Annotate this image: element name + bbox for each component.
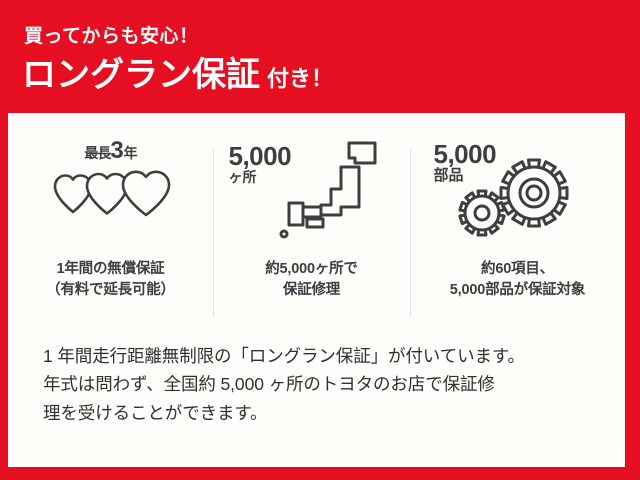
feature-warranty-term: 最長 3 年 (8, 137, 213, 332)
advertisement-banner: 買ってからも安心！ ロングラン保証 付き！ 最長 3 年 (0, 0, 640, 480)
header-title-suffix: 付き！ (267, 68, 333, 92)
warranty-term-caption: 1年間の無償保証 （有料で延長可能） (8, 259, 213, 300)
service-locations-caption: 約5,000ヶ所で 保証修理 (213, 259, 410, 300)
covered-parts-caption: 約60項目、 5,000部品が保証対象 (410, 259, 625, 300)
three-hearts-icon (51, 167, 171, 222)
banner-header: 買ってからも安心！ ロングラン保証 付き！ (0, 0, 640, 113)
content-panel: 最長 3 年 (8, 113, 625, 467)
feature-service-locations: 5,000 ヶ所 (213, 137, 410, 332)
service-locations-caption-line-1: 約5,000ヶ所で (213, 259, 410, 280)
covered-parts-caption-line-2: 5,000部品が保証対象 (410, 280, 625, 301)
warranty-term-prefix: 最長 (84, 143, 110, 163)
feature-columns: 最長 3 年 (8, 137, 625, 332)
covered-parts-icon-area: 5,000 部品 (410, 137, 625, 257)
service-locations-caption-line-2: 保証修理 (213, 280, 410, 301)
body-line-3: 理を受けることができます。 (43, 399, 603, 427)
warranty-term-unit: 年 (124, 143, 137, 163)
warranty-term-icon-area: 最長 3 年 (8, 137, 213, 257)
header-title: ロングラン保証 (22, 58, 260, 92)
body-line-1: 1 年間走行距離無制限の「ロングラン保証」が付いています。 (43, 342, 603, 370)
header-eyebrow: 買ってからも安心！ (24, 27, 199, 46)
warranty-term-caption-line-2: （有料で延長可能） (8, 280, 213, 301)
service-locations-icon-area: 5,000 ヶ所 (213, 137, 410, 257)
covered-parts-caption-line-1: 約60項目、 (410, 259, 625, 280)
warranty-term-number: 3 (110, 139, 123, 163)
warranty-term-headline: 最長 3 年 (84, 139, 136, 163)
header-title-row: ロングラン保証 付き！ (22, 58, 333, 92)
body-paragraph: 1 年間走行距離無制限の「ロングラン保証」が付いています。 年式は問わず、全国約… (43, 342, 603, 427)
japan-map-icon (279, 137, 389, 247)
warranty-term-caption-line-1: 1年間の無償保証 (8, 259, 213, 280)
body-line-2: 年式は問わず、全国約 5,000 ヶ所のトヨタのお店で保証修 (43, 370, 603, 398)
gears-icon (456, 155, 586, 250)
feature-covered-parts: 5,000 部品 (410, 137, 625, 332)
